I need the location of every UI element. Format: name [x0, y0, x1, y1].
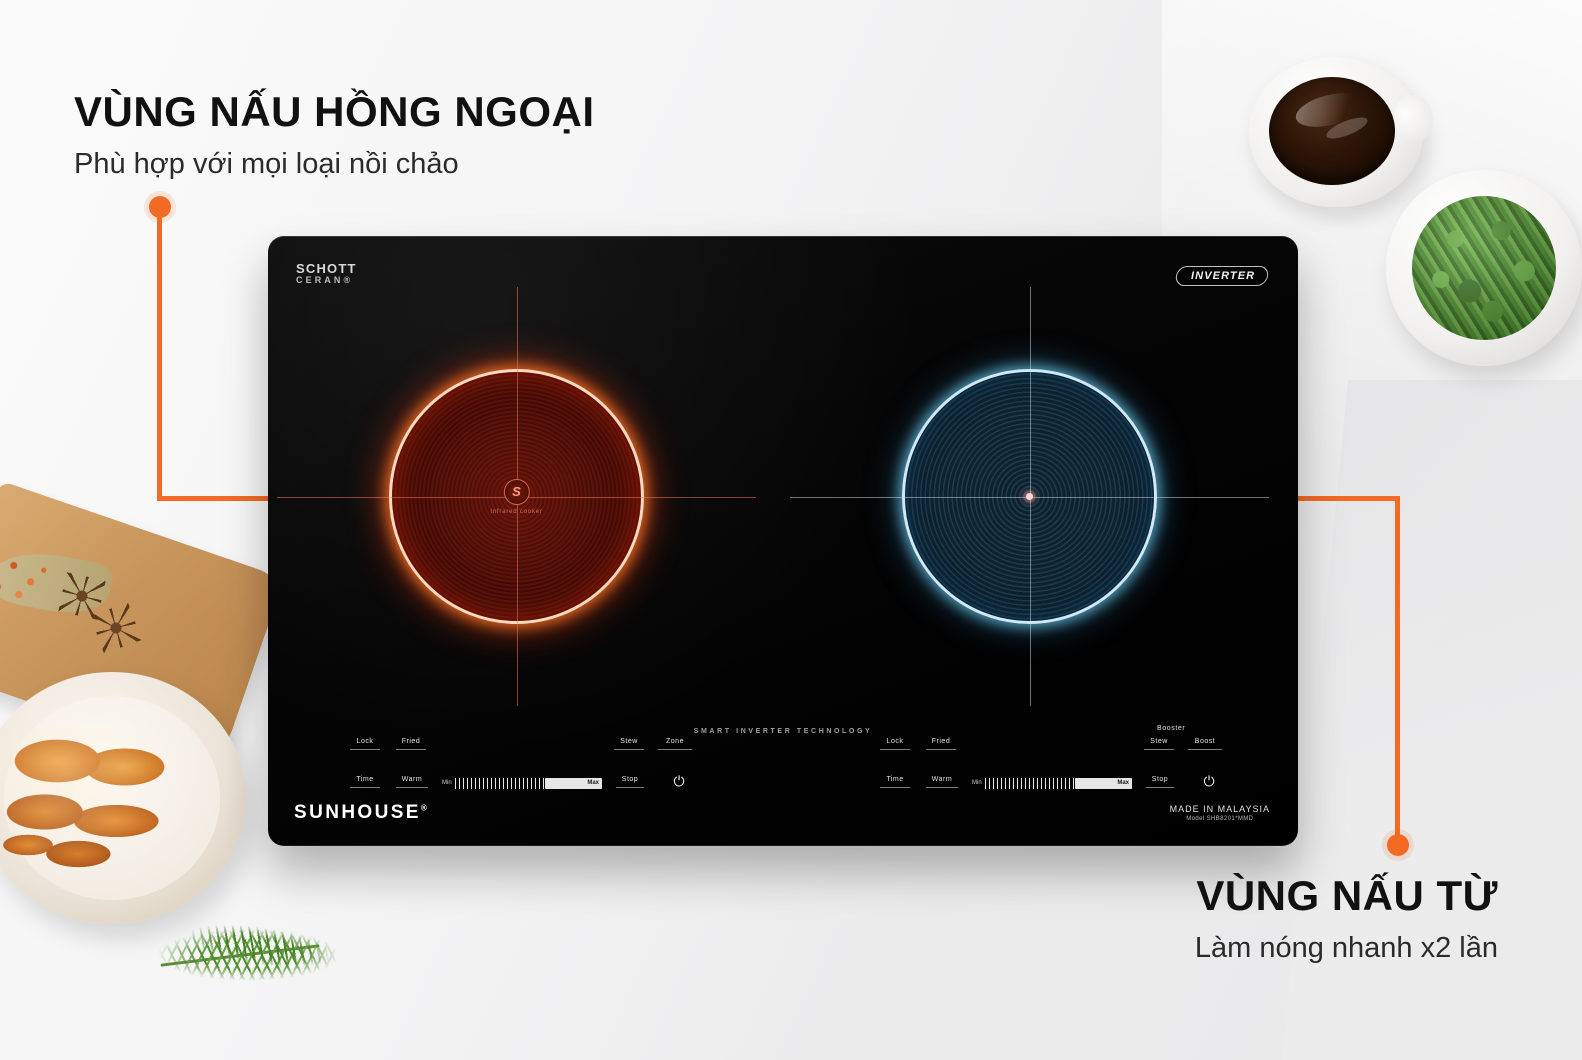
- button-label: Lock: [880, 738, 910, 745]
- callout-line-right-vertical: [1395, 496, 1400, 842]
- button-underline: [1144, 749, 1174, 750]
- button-underline: [880, 787, 910, 788]
- button-label: Lock: [350, 738, 380, 745]
- slider-ticks: [455, 778, 545, 789]
- slider-ticks: [985, 778, 1075, 789]
- model-label: Model SHB8201*MMD: [1170, 816, 1270, 822]
- button-stew-left[interactable]: Stew: [614, 738, 644, 750]
- button-label: Fried: [396, 738, 426, 745]
- button-lock-left[interactable]: Lock: [350, 738, 380, 750]
- callout-right-subtitle: Làm nóng nhanh x2 lần: [1195, 926, 1498, 970]
- schott-line2: CERAN®: [296, 276, 357, 285]
- power-slider-left[interactable]: Min Max: [442, 776, 602, 790]
- button-stew-right[interactable]: Stew: [1144, 738, 1174, 750]
- poster-canvas: SCHOTT CERAN® INVERTER S Infrared cooker…: [0, 0, 1582, 1060]
- button-label: Stew: [614, 738, 644, 745]
- fried-chicken: [0, 728, 196, 878]
- button-fried-left[interactable]: Fried: [396, 738, 426, 750]
- button-boost-right[interactable]: Boost: [1188, 738, 1222, 750]
- slider-knob[interactable]: Max: [545, 778, 602, 789]
- herb-bowl: [1386, 170, 1582, 366]
- button-label: Warm: [926, 776, 958, 783]
- button-time-right[interactable]: Time: [880, 776, 910, 788]
- slider-min-label: Min: [442, 780, 452, 786]
- cooking-zone-induction[interactable]: [902, 369, 1157, 624]
- infrared-badge-caption: Infrared cooker: [490, 509, 542, 515]
- sauce-bowl-spout: [1393, 95, 1433, 143]
- callout-right-title: VÙNG NẤU TỪ: [1195, 872, 1498, 920]
- button-label: Warm: [396, 776, 428, 783]
- button-underline: [926, 749, 956, 750]
- slider-max-label: Max: [587, 780, 599, 786]
- induction-center-point: [1026, 493, 1033, 500]
- chili-flakes: [0, 549, 58, 617]
- rosemary-sprig: [150, 920, 340, 990]
- callout-infrared: VÙNG NẤU HỒNG NGOẠI Phù hợp với mọi loại…: [74, 88, 595, 186]
- power-icon-left[interactable]: ⏻: [670, 772, 688, 790]
- slider-min-label: Min: [972, 780, 982, 786]
- origin-block: MADE IN MALAYSIA Model SHB8201*MMD: [1170, 804, 1270, 822]
- button-underline: [614, 749, 644, 750]
- button-warm-right[interactable]: Warm: [926, 776, 958, 788]
- inverter-label: INVERTER: [1191, 270, 1255, 282]
- registered-mark: ®: [421, 804, 427, 813]
- callout-induction: VÙNG NẤU TỪ Làm nóng nhanh x2 lần: [1195, 872, 1498, 970]
- button-label: Time: [880, 776, 910, 783]
- callout-left-title: VÙNG NẤU HỒNG NGOẠI: [74, 88, 595, 136]
- sunhouse-wordmark: SUNHOUSE: [294, 802, 421, 823]
- callout-line-left-vertical: [157, 214, 162, 499]
- smart-inverter-tagline: SMART INVERTER TECHNOLOGY: [694, 728, 873, 735]
- button-lock-right[interactable]: Lock: [880, 738, 910, 750]
- made-in-label: MADE IN MALAYSIA: [1170, 804, 1270, 814]
- button-label: Stop: [616, 776, 644, 783]
- cooking-zone-infrared[interactable]: S Infrared cooker: [389, 369, 644, 624]
- button-label: Fried: [926, 738, 956, 745]
- button-underline: [396, 787, 428, 788]
- button-label: Stop: [1146, 776, 1174, 783]
- induction-cooktop: SCHOTT CERAN® INVERTER S Infrared cooker…: [268, 236, 1298, 846]
- button-underline: [350, 749, 380, 750]
- sunhouse-logo: SUNHOUSE®: [294, 802, 427, 824]
- button-stop-right[interactable]: Stop: [1146, 776, 1174, 788]
- power-slider-right[interactable]: Min Max: [972, 776, 1132, 790]
- control-panel-right[interactable]: Lock Fried Stew Boost Time Warm: [876, 732, 1226, 802]
- button-label: Boost: [1188, 738, 1222, 745]
- schott-line1: SCHOTT: [296, 262, 357, 276]
- button-zone-left[interactable]: Zone: [658, 738, 692, 750]
- button-fried-right[interactable]: Fried: [926, 738, 956, 750]
- button-underline: [350, 787, 380, 788]
- button-underline: [1188, 749, 1222, 750]
- button-underline: [880, 749, 910, 750]
- button-underline: [658, 749, 692, 750]
- callout-dot-right: [1387, 834, 1409, 856]
- schott-ceran-logo: SCHOTT CERAN®: [296, 262, 357, 285]
- button-label: Stew: [1144, 738, 1174, 745]
- chopped-herbs: [1412, 196, 1556, 340]
- button-underline: [926, 787, 958, 788]
- callout-left-subtitle: Phù hợp với mọi loại nồi chảo: [74, 142, 595, 186]
- control-panel-left[interactable]: Lock Fried Stew Zone Time Warm: [346, 732, 696, 802]
- callout-dot-left: [149, 196, 171, 218]
- booster-label: Booster: [1157, 725, 1185, 732]
- button-stop-left[interactable]: Stop: [616, 776, 644, 788]
- power-icon-right[interactable]: ⏻: [1200, 772, 1218, 790]
- button-label: Zone: [658, 738, 692, 745]
- slider-knob[interactable]: Max: [1075, 778, 1132, 789]
- sauce-bowl: [1249, 57, 1423, 207]
- button-label: Time: [350, 776, 380, 783]
- button-underline: [1146, 787, 1174, 788]
- button-underline: [396, 749, 426, 750]
- sunhouse-s-icon: S: [503, 479, 529, 505]
- infrared-center-badge: S Infrared cooker: [490, 479, 542, 515]
- button-underline: [616, 787, 644, 788]
- button-warm-left[interactable]: Warm: [396, 776, 428, 788]
- button-time-left[interactable]: Time: [350, 776, 380, 788]
- slider-max-label: Max: [1117, 780, 1129, 786]
- inverter-badge: INVERTER: [1174, 266, 1269, 286]
